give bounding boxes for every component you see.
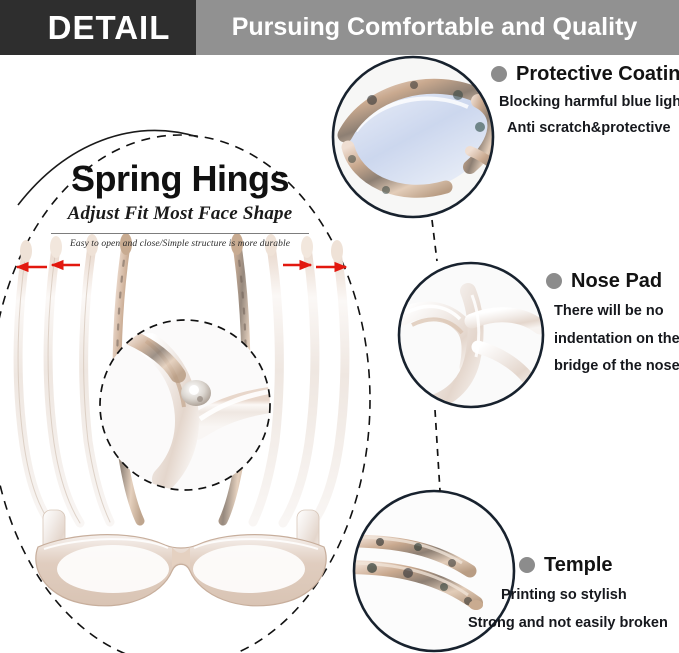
bullet-dot-icon [519, 557, 535, 573]
callout-protective-coating: Protective Coating Blocking harmful blue… [491, 64, 679, 135]
infographic-stage: Spring Hings Adjust Fit Most Face Shape … [0, 55, 679, 653]
callout-temple-line-2: Strong and not easily broken [468, 616, 668, 631]
coating-photo-circle [333, 57, 512, 217]
page-title: DETAIL [0, 0, 196, 55]
callout-protective-coating-title: Protective Coating [516, 64, 679, 84]
header-bar: DETAIL Pursuing Comfortable and Quality [0, 0, 679, 55]
bullet-dot-icon [546, 273, 562, 289]
callout-nose-pad-head: Nose Pad [546, 271, 679, 291]
nosepad-photo-circle [399, 263, 543, 407]
callout-nose-pad-line-2: indentation on the [554, 332, 679, 347]
callout-nose-pad-title: Nose Pad [571, 271, 662, 291]
header-tagline: Pursuing Comfortable and Quality [196, 0, 679, 55]
flex-arrows [17, 265, 346, 267]
detail-infographic: DETAIL Pursuing Comfortable and Quality [0, 0, 679, 653]
callout-protective-coating-line-1: Blocking harmful blue light [499, 95, 679, 110]
callout-protective-coating-line-2: Anti scratch&protective [507, 121, 679, 136]
callout-nose-pad-line-1: There will be no [554, 304, 679, 319]
callout-nose-pad-line-3: bridge of the nose [554, 359, 679, 374]
callout-temple-line-1: Printing so stylish [501, 588, 668, 603]
callout-temple-head: Temple [519, 555, 668, 575]
callout-nose-pad: Nose Pad There will be no indentation on… [546, 271, 679, 374]
callout-temple-title: Temple [544, 555, 613, 575]
callout-protective-coating-head: Protective Coating [491, 64, 679, 84]
callout-temple: Temple Printing so stylish Strong and no… [519, 555, 668, 630]
glasses-front-frame [36, 535, 326, 606]
hinge-closeup-inset [100, 320, 272, 490]
bullet-dot-icon [491, 66, 507, 82]
